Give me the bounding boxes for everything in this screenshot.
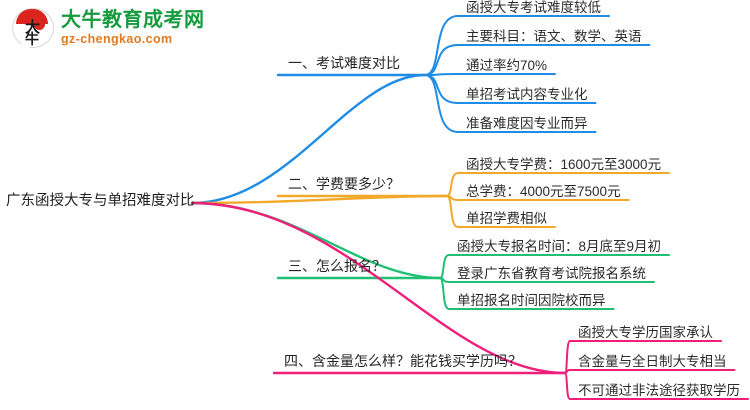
leaf-node-value-3[interactable]: 不可通过非法途径获取学历 — [578, 382, 740, 399]
leaf-node-tuition-1[interactable]: 函授大专学费：1600元至3000元 — [466, 156, 661, 173]
logo-char-bottom: 牛 — [10, 32, 54, 46]
leaf-node-exam-difficulty-4[interactable]: 单招考试内容专业化 — [466, 86, 588, 103]
leaf-node-exam-difficulty-3[interactable]: 通过率约70% — [466, 57, 547, 74]
leaf-node-tuition-3[interactable]: 单招学费相似 — [466, 210, 547, 227]
site-logo: 大 牛 大牛教育成考网 gz-chengkao.com — [10, 6, 205, 50]
branch-node-exam-difficulty[interactable]: 一、考试难度对比 — [288, 54, 400, 72]
leaf-node-registration-1[interactable]: 函授大专报名时间：8月底至9月初 — [457, 238, 661, 255]
leaf-node-exam-difficulty-2[interactable]: 主要科目：语文、数学、英语 — [466, 28, 642, 45]
logo-mark-icon: 大 牛 — [10, 6, 54, 50]
mindmap-canvas: 大 牛 大牛教育成考网 gz-chengkao.com 广东函授大专与单招难度对… — [0, 0, 750, 410]
branch-node-value[interactable]: 四、含金量怎么样？能花钱买学历吗？ — [284, 352, 522, 370]
branch-node-registration[interactable]: 三、怎么报名？ — [288, 257, 386, 275]
root-node[interactable]: 广东函授大专与单招难度对比 — [6, 192, 195, 210]
leaf-node-exam-difficulty-5[interactable]: 准备难度因专业而异 — [466, 115, 588, 132]
leaf-node-exam-difficulty-1[interactable]: 函授大专考试难度较低 — [466, 0, 601, 16]
leaf-node-registration-3[interactable]: 单招报名时间因院校而异 — [457, 292, 606, 309]
leaf-node-value-2[interactable]: 含金量与全日制大专相当 — [578, 353, 727, 370]
leaf-node-registration-2[interactable]: 登录广东省教育考试院报名系统 — [457, 265, 646, 282]
logo-subtitle: gz-chengkao.com — [61, 32, 205, 47]
leaf-node-value-1[interactable]: 函授大专学历国家承认 — [578, 324, 713, 341]
leaf-node-tuition-2[interactable]: 总学费：4000元至7500元 — [466, 183, 621, 200]
branch-node-tuition[interactable]: 二、学费要多少？ — [288, 175, 400, 193]
logo-text-block: 大牛教育成考网 gz-chengkao.com — [61, 9, 205, 47]
logo-title: 大牛教育成考网 — [61, 9, 205, 31]
